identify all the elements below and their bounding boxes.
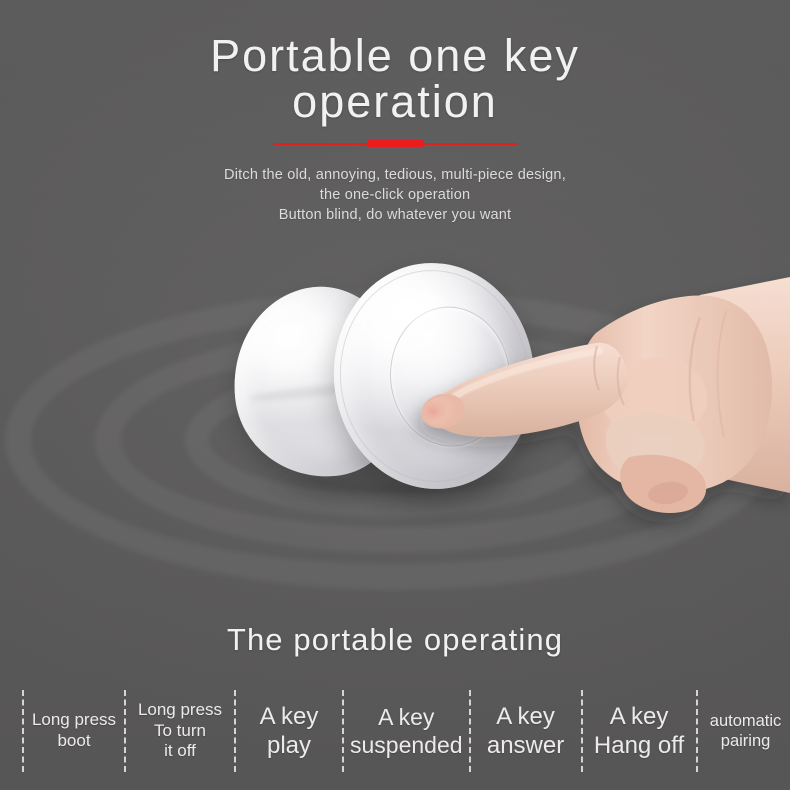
feature-long-press-boot[interactable]: Long pressboot (22, 690, 124, 772)
title-line-1: Portable one key (210, 30, 580, 81)
section-title: The portable operating (0, 622, 790, 658)
subtitle-line-2: the one-click operation (0, 185, 790, 205)
poster: Portable one key operation Ditch the old… (0, 0, 790, 790)
feature-label: A keysuspended (350, 703, 463, 759)
feature-label: Long pressboot (32, 710, 116, 751)
feature-strip: Long pressboot Long pressTo turnit off A… (22, 690, 776, 772)
subtitle-line-1: Ditch the old, annoying, tedious, multi-… (0, 165, 790, 185)
page-title: Portable one key operation (0, 33, 790, 125)
hand-pointing (0, 225, 790, 605)
title-divider (274, 139, 517, 149)
hero-stage (0, 225, 790, 605)
feature-a-key-play[interactable]: A keyplay (234, 690, 342, 772)
feature-label: A keyanswer (487, 702, 564, 761)
feature-long-press-turn-off[interactable]: Long pressTo turnit off (124, 690, 234, 772)
title-line-2: operation (0, 79, 790, 125)
hand-group (418, 277, 790, 513)
feature-label: A keyplay (260, 702, 319, 761)
feature-label: Long pressTo turnit off (138, 700, 222, 762)
feature-a-key-suspended[interactable]: A keysuspended (342, 690, 469, 772)
feature-a-key-hang-off[interactable]: A keyHang off (581, 690, 696, 772)
feature-a-key-answer[interactable]: A keyanswer (469, 690, 581, 772)
divider-thick-accent (367, 140, 423, 147)
header: Portable one key operation Ditch the old… (0, 0, 790, 225)
feature-label: A keyHang off (594, 702, 684, 761)
feature-label: automaticpairing (710, 711, 782, 751)
feature-automatic-pairing[interactable]: automaticpairing (696, 690, 790, 772)
subtitle: Ditch the old, annoying, tedious, multi-… (0, 165, 790, 225)
subtitle-line-3: Button blind, do whatever you want (0, 205, 790, 225)
